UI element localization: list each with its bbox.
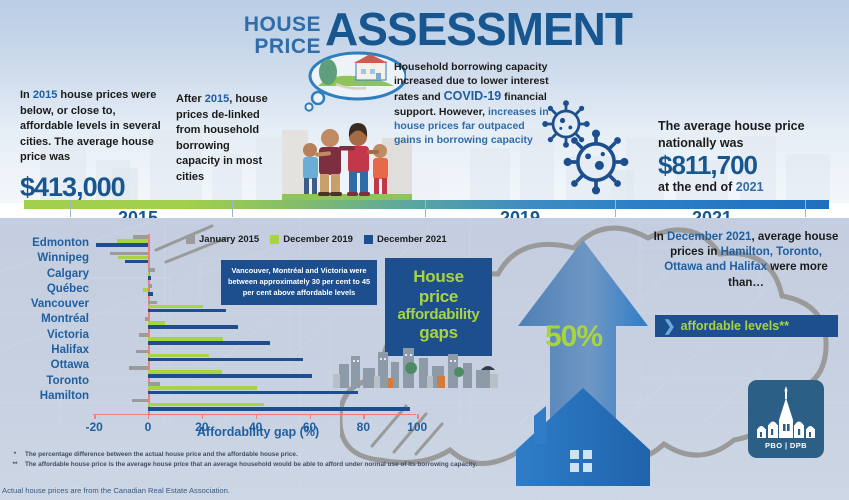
- thought-bubble-house-icon: [300, 50, 406, 112]
- b4-t2: at the end of: [658, 180, 736, 194]
- chart-category-label: Winnipeg: [0, 251, 97, 266]
- timeline-tick-mid2: [425, 200, 426, 217]
- chart-bar: [148, 292, 153, 296]
- chart-x-tick: [94, 414, 95, 419]
- chart-bar: [148, 358, 303, 362]
- footnote-2-text: The affordable house price is the averag…: [25, 460, 477, 470]
- b1-t1: In: [20, 89, 33, 101]
- chart-category-label: Toronto: [0, 374, 97, 389]
- cloud-t1: In: [654, 231, 667, 243]
- city-skyline-illustration-icon: [333, 346, 498, 388]
- b1-year: 2015: [33, 89, 57, 101]
- chart-x-tick: [363, 414, 364, 419]
- footnotes: * The percentage difference between the …: [10, 450, 530, 469]
- chevron-right-icon: ❯: [663, 319, 676, 334]
- chart-category-label: Ottawa: [0, 358, 97, 373]
- pbo-dpb-logo: PBO | DPB: [748, 380, 824, 458]
- gapbox-line2: price: [385, 287, 492, 307]
- text-block-delink: After 2015, house prices de-linked from …: [176, 92, 276, 186]
- b2-year: 2015: [205, 93, 229, 105]
- chart-category-label: Hamilton: [0, 389, 97, 404]
- chart-bar: [148, 403, 264, 407]
- gapbox-line1: House: [385, 267, 492, 287]
- chart-bar: [148, 325, 238, 329]
- chart-category-labels: EdmontonWinnipegCalgaryQuébecVancouverMo…: [0, 236, 97, 404]
- footnote-1: * The percentage difference between the …: [10, 450, 530, 460]
- chart-bar: [148, 341, 270, 345]
- footnote-1-mark: *: [10, 450, 20, 460]
- chart-bar: [117, 239, 148, 243]
- chart-x-axis: [93, 414, 416, 415]
- text-block-national-price: The average house price nationally was $…: [658, 118, 833, 196]
- avg-price-2015: $413,000: [20, 168, 170, 203]
- chart-bar: [148, 374, 312, 378]
- chart-bar: [148, 272, 149, 276]
- chart-bar: [136, 350, 148, 354]
- affordable-levels-band: ❯ affordable levels**: [655, 315, 838, 337]
- b2-t2: , house prices de-linked from household …: [176, 93, 268, 183]
- chart-bar: [148, 321, 165, 325]
- chart-category-label: Edmonton: [0, 236, 97, 251]
- gapbox-line3: affordability: [385, 306, 492, 323]
- chart-bar: [148, 370, 222, 374]
- title-house: HOUSE: [244, 14, 321, 36]
- chart-x-tick: [417, 414, 418, 419]
- chart-bar: [148, 386, 257, 390]
- chart-bar: [139, 333, 148, 337]
- chart-bar: [125, 260, 148, 264]
- chart-bar: [148, 337, 223, 341]
- avg-price-2021: $811,700: [658, 152, 833, 179]
- b3-covid: COVID-19: [444, 89, 502, 103]
- logo-label: PBO | DPB: [748, 441, 824, 450]
- title-assessment: ASSESSMENT: [325, 6, 632, 52]
- affordable-levels-text: affordable levels**: [681, 319, 789, 333]
- gapbox-line4: gaps: [385, 323, 492, 343]
- chart-bar: [118, 256, 148, 260]
- source-line: Actual house prices are from the Canadia…: [2, 486, 230, 495]
- chart-bar: [129, 366, 148, 370]
- upward-arrow-house-icon: [510, 234, 656, 486]
- chart-annotation-callout: Vancouver, Montréal and Victoria were be…: [221, 260, 377, 305]
- infographic-root: HOUSE PRICE ASSESSMENT: [0, 0, 849, 500]
- chart-bar: [148, 284, 152, 288]
- chart-row: [93, 316, 423, 331]
- chart-bar: [132, 399, 148, 403]
- covid-virus-icon-2: [562, 128, 630, 196]
- chart-row: [93, 234, 423, 249]
- footnote-2-mark: **: [10, 460, 20, 470]
- header-sky-band: HOUSE PRICE ASSESSMENT: [0, 0, 849, 203]
- chart-bar: [96, 243, 148, 247]
- chart-x-tick: [310, 414, 311, 419]
- chart-category-label: Victoria: [0, 328, 97, 343]
- chart-x-axis-title: Affordability gap (%): [93, 425, 423, 439]
- family-illustration-icon: [282, 110, 412, 202]
- chart-category-label: Vancouver: [0, 297, 97, 312]
- chart-x-tick: [202, 414, 203, 419]
- chart-bar: [148, 407, 410, 411]
- fifty-percent-label: 50%: [545, 320, 602, 354]
- chart-x-tick: [148, 414, 149, 419]
- text-block-2015: In 2015 house prices were below, or clos…: [20, 88, 170, 203]
- chart-category-label: Montréal: [0, 312, 97, 327]
- chart-bar: [148, 354, 209, 358]
- chart-bar: [143, 288, 148, 292]
- b2-t1: After: [176, 93, 205, 105]
- affordability-gaps-title-box: House price affordability gaps: [385, 258, 492, 356]
- b4-t1: The average house price nationally was: [658, 119, 805, 150]
- text-block-covid: Household borrowing capacity increased d…: [394, 60, 549, 147]
- chart-category-label: Québec: [0, 282, 97, 297]
- cloud-message: In December 2021, average house prices i…: [652, 230, 840, 291]
- cloud-hl1: December 2021: [667, 231, 751, 243]
- timeline-tick-2015: [70, 200, 71, 217]
- chart-category-label: Halifax: [0, 343, 97, 358]
- footnote-2: ** The affordable house price is the ave…: [10, 460, 530, 470]
- chart-category-label: Calgary: [0, 267, 97, 282]
- chart-x-tick: [256, 414, 257, 419]
- footnote-1-text: The percentage difference between the ac…: [25, 450, 298, 460]
- chart-bar: [148, 391, 358, 395]
- chart-bar: [148, 305, 203, 309]
- chart-row: [93, 398, 423, 413]
- timeline-tick-2019: [615, 200, 616, 217]
- timeline-tick-2021: [805, 200, 806, 217]
- timeline-tick-mid1: [232, 200, 233, 217]
- chart-bar: [148, 309, 226, 313]
- chart-bar: [148, 276, 151, 280]
- b4-year: 2021: [736, 180, 764, 194]
